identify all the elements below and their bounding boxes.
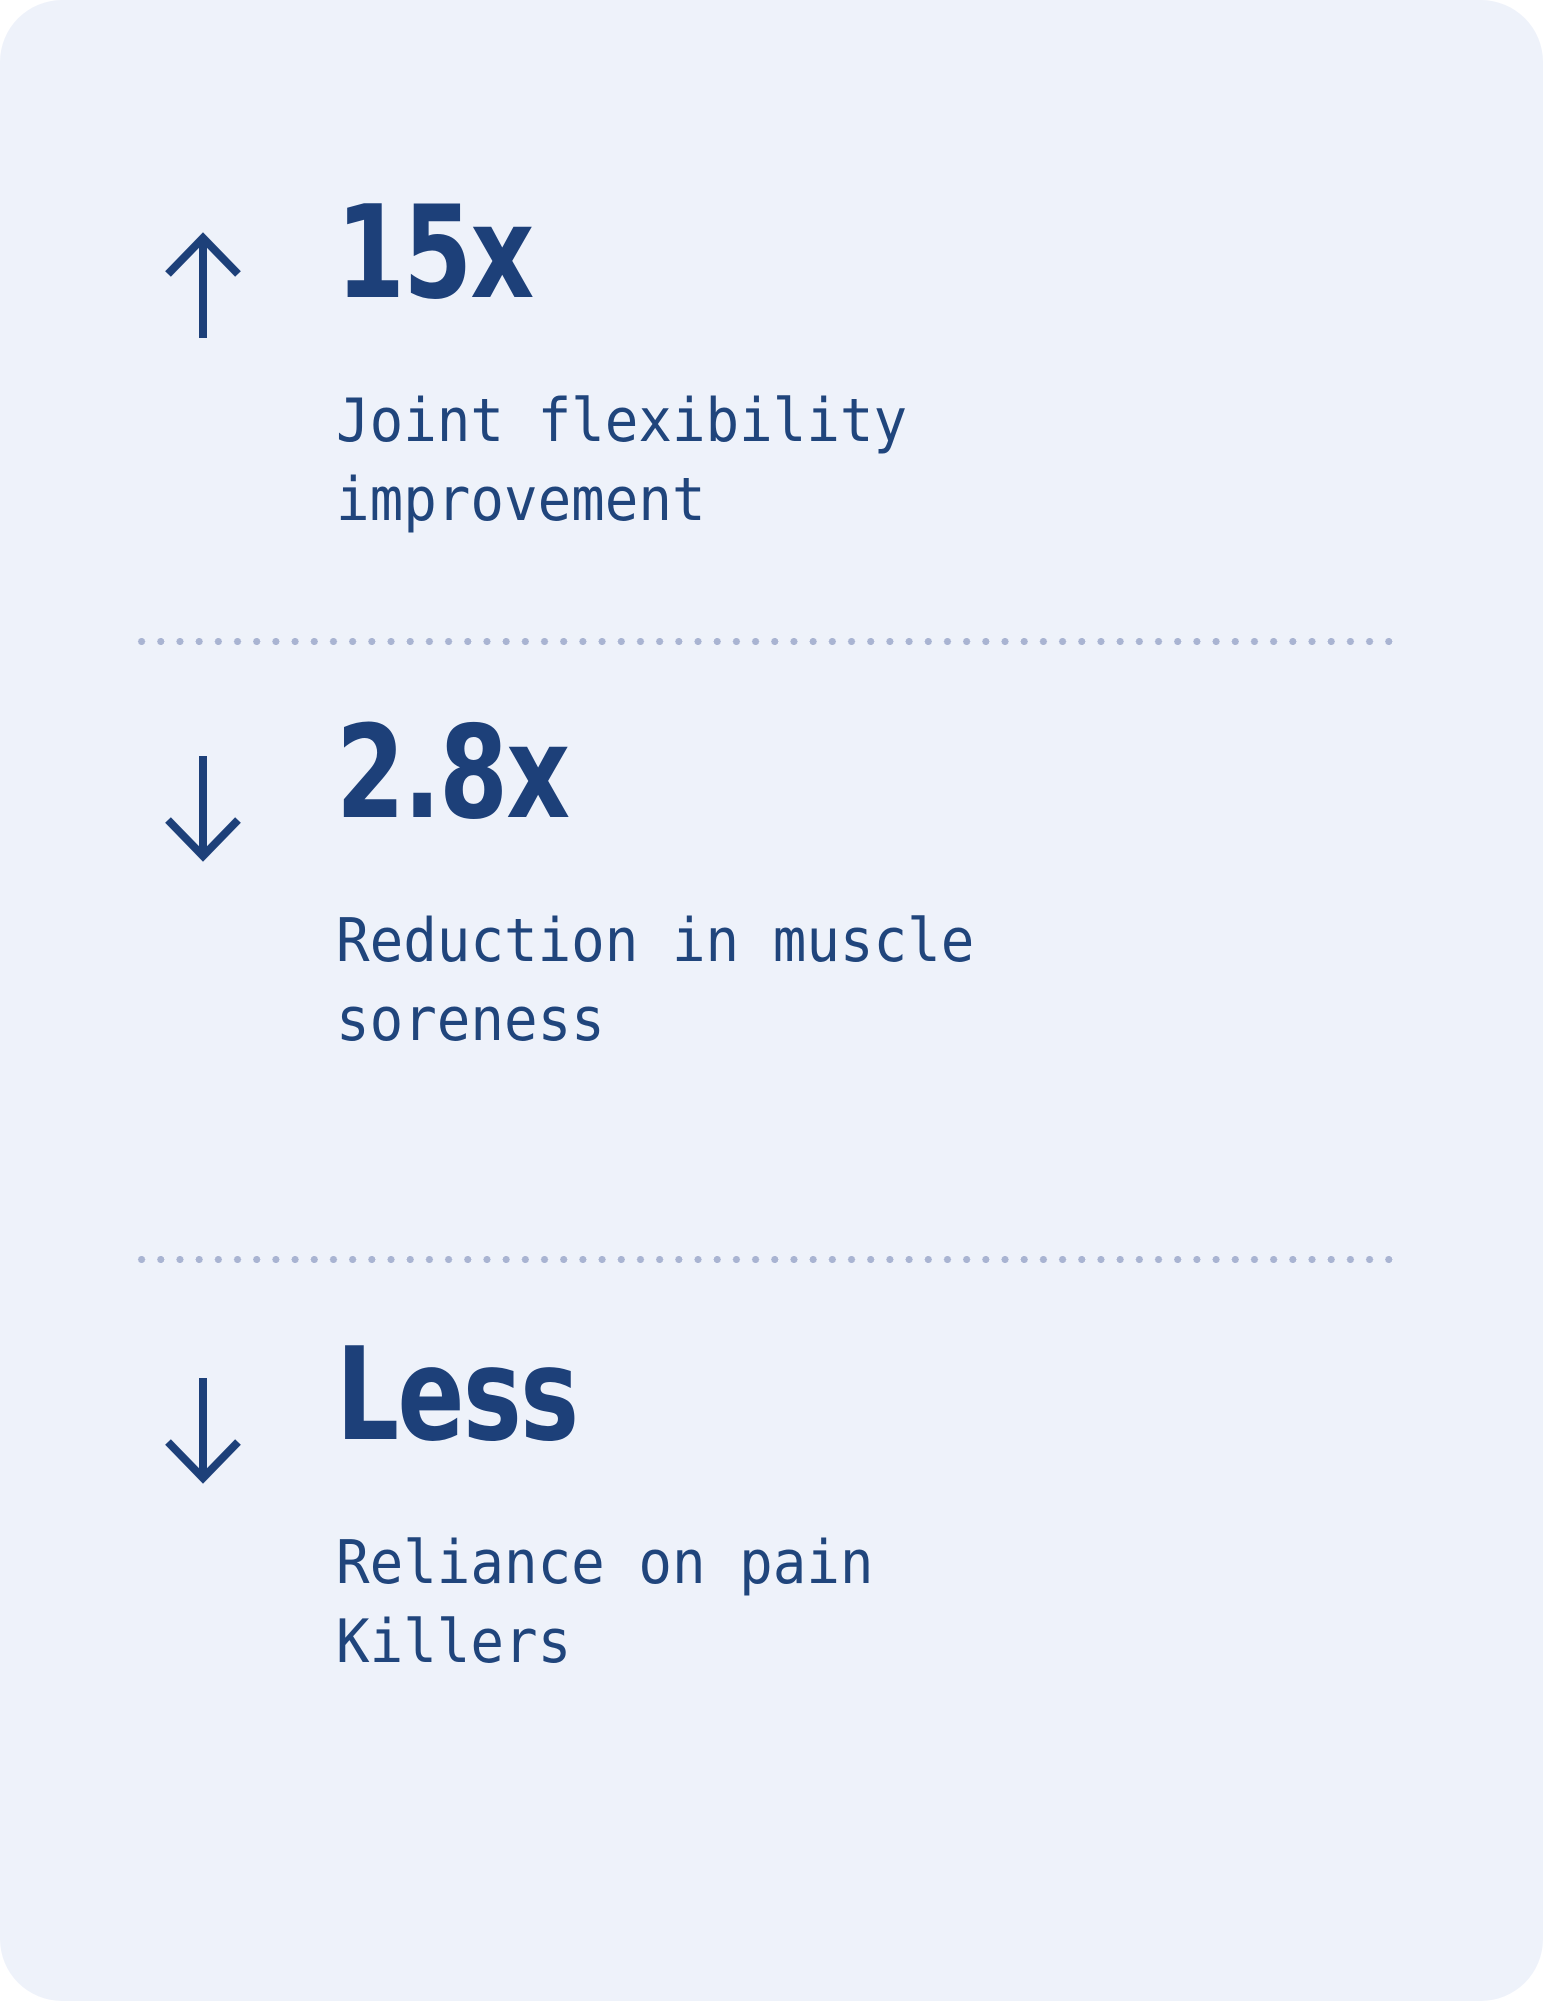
stat-value: Less [336, 1332, 577, 1460]
arrow-down-icon [160, 752, 246, 862]
stat-value: 15x [336, 190, 533, 318]
divider [132, 1256, 1404, 1263]
stat-value: 2.8x [336, 710, 568, 838]
stat-label: Reduction in muscle soreness [336, 902, 1080, 1060]
stats-list: 15x Joint flexibility improvement 2.8x R… [0, 0, 1543, 2001]
stat-label: Reliance on pain Killers [336, 1524, 1080, 1682]
stat-label: Joint flexibility improvement [336, 382, 1080, 540]
arrow-down-icon [160, 1374, 246, 1484]
divider [132, 638, 1404, 645]
stats-card: 15x Joint flexibility improvement 2.8x R… [0, 0, 1543, 2001]
arrow-up-icon [160, 232, 246, 342]
